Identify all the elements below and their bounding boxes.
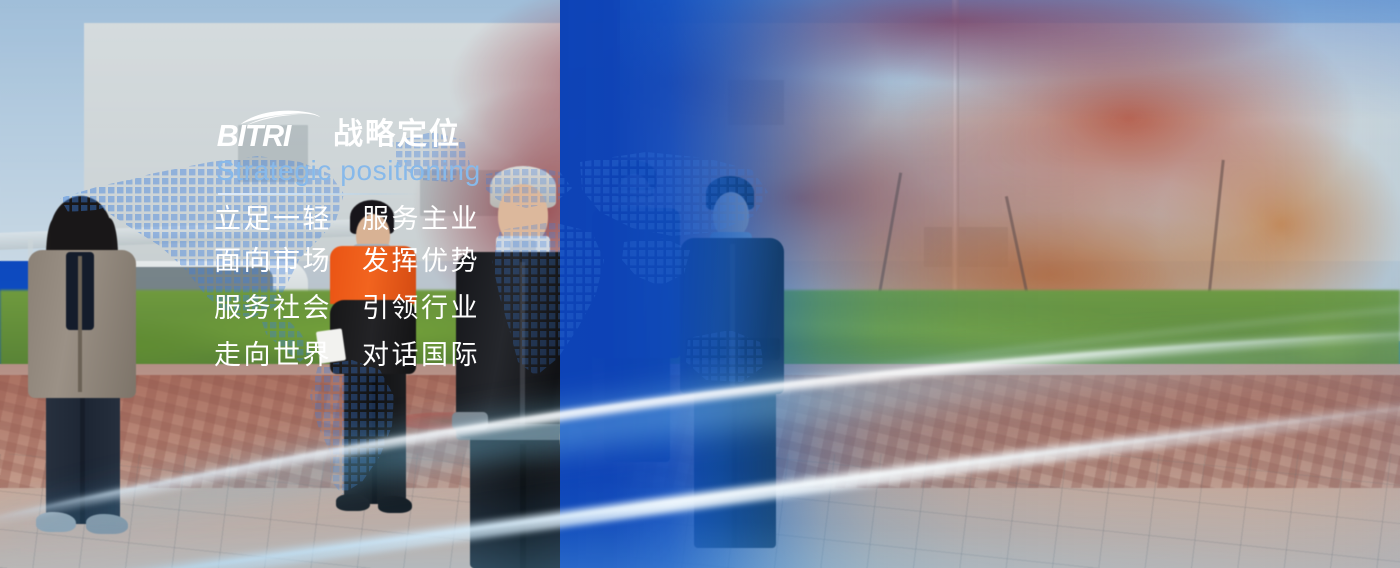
brand-title-cn: 战略定位 (333, 120, 461, 150)
slogan-list: 立足一轻 服务主业 面向市场 发挥优势 服务社会 引领行业 走向世界 对话国际 (214, 206, 614, 385)
slogan-right: 引领行业 (362, 295, 480, 322)
slogan-line: 面向市场 发挥优势 (214, 248, 614, 275)
slogan-left: 服务社会 (214, 295, 332, 322)
slogan-left: 立足一轻 (214, 206, 332, 233)
brand-subtitle-en: Strategic positioning (216, 157, 481, 185)
slogan-right: 服务主业 (362, 206, 480, 233)
strategic-positioning-banner: BITRI 战略定位 Strategic positioning 立足一轻 服务… (0, 0, 1400, 568)
slogan-line: 服务社会 引领行业 (214, 295, 614, 322)
slogan-line: 走向世界 对话国际 (214, 342, 614, 369)
slogan-right: 发挥优势 (362, 248, 480, 275)
slogan-line: 立足一轻 服务主业 (214, 206, 614, 233)
slogan-right: 对话国际 (362, 342, 480, 369)
slogan-left: 走向世界 (214, 342, 332, 369)
slogan-left: 面向市场 (214, 248, 332, 275)
bitri-logo: BITRI (216, 112, 320, 152)
title-underline (218, 193, 418, 195)
bitri-wordmark: BITRI (217, 120, 290, 151)
brand-row: BITRI 战略定位 (216, 112, 461, 152)
